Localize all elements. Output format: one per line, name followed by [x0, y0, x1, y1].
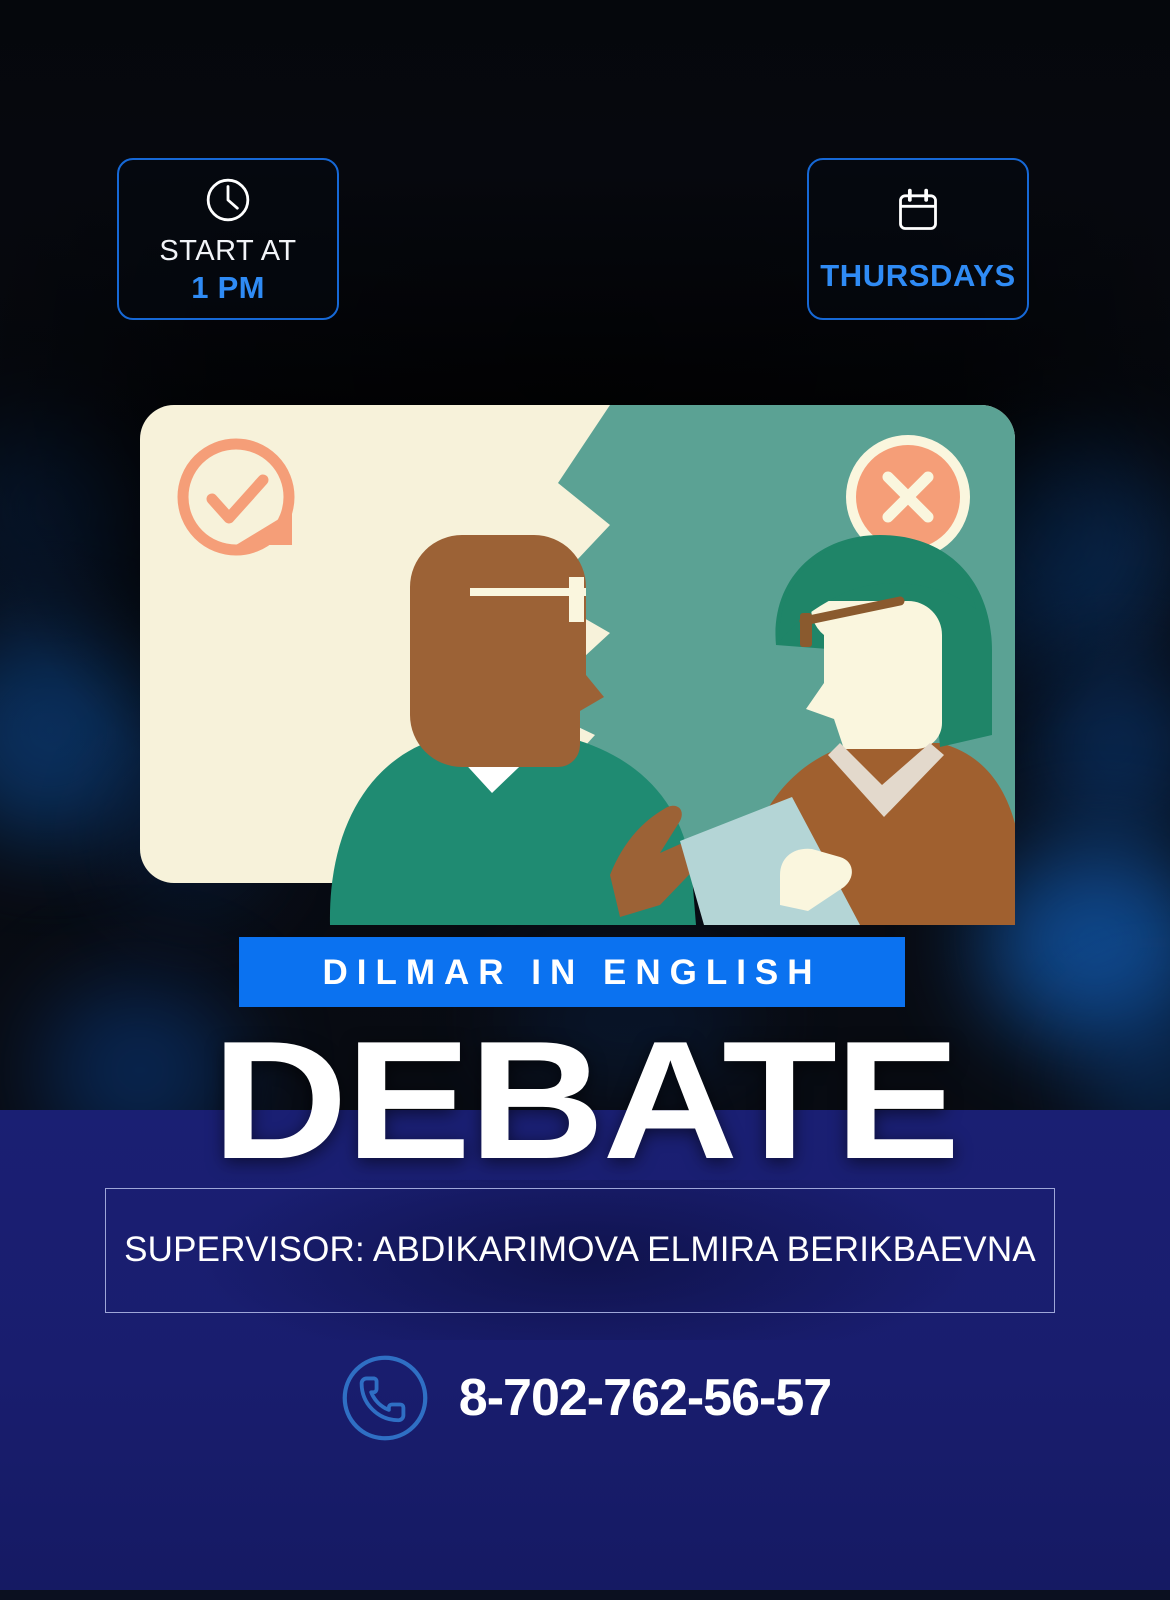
debate-illustration	[140, 405, 1015, 883]
poster-root: START AT 1 PM THURSDAYS	[0, 0, 1170, 1600]
bottom-strip	[0, 1590, 1170, 1600]
clock-icon	[200, 172, 256, 228]
phone-icon[interactable]	[339, 1352, 431, 1444]
contact-row: 8-702-762-56-57	[0, 1352, 1170, 1444]
illustration-artwork	[140, 405, 1015, 925]
phone-number[interactable]: 8-702-762-56-57	[459, 1368, 831, 1428]
supervisor-box: SUPERVISOR: ABDIKARIMOVA ELMIRA BERIKBAE…	[105, 1188, 1055, 1313]
day-value: THURSDAYS	[820, 257, 1015, 294]
page-title: DEBATE	[0, 1016, 1170, 1184]
calendar-icon	[890, 183, 946, 239]
start-at-label: START AT	[159, 236, 296, 266]
subtitle-text: DILMAR IN ENGLISH	[322, 955, 821, 990]
day-badge: THURSDAYS	[807, 158, 1029, 320]
supervisor-text: SUPERVISOR: ABDIKARIMOVA ELMIRA BERIKBAE…	[106, 1230, 1054, 1270]
start-time-value: 1 PM	[191, 269, 265, 306]
subtitle-ribbon: DILMAR IN ENGLISH	[239, 937, 905, 1007]
start-time-badge: START AT 1 PM	[117, 158, 339, 320]
